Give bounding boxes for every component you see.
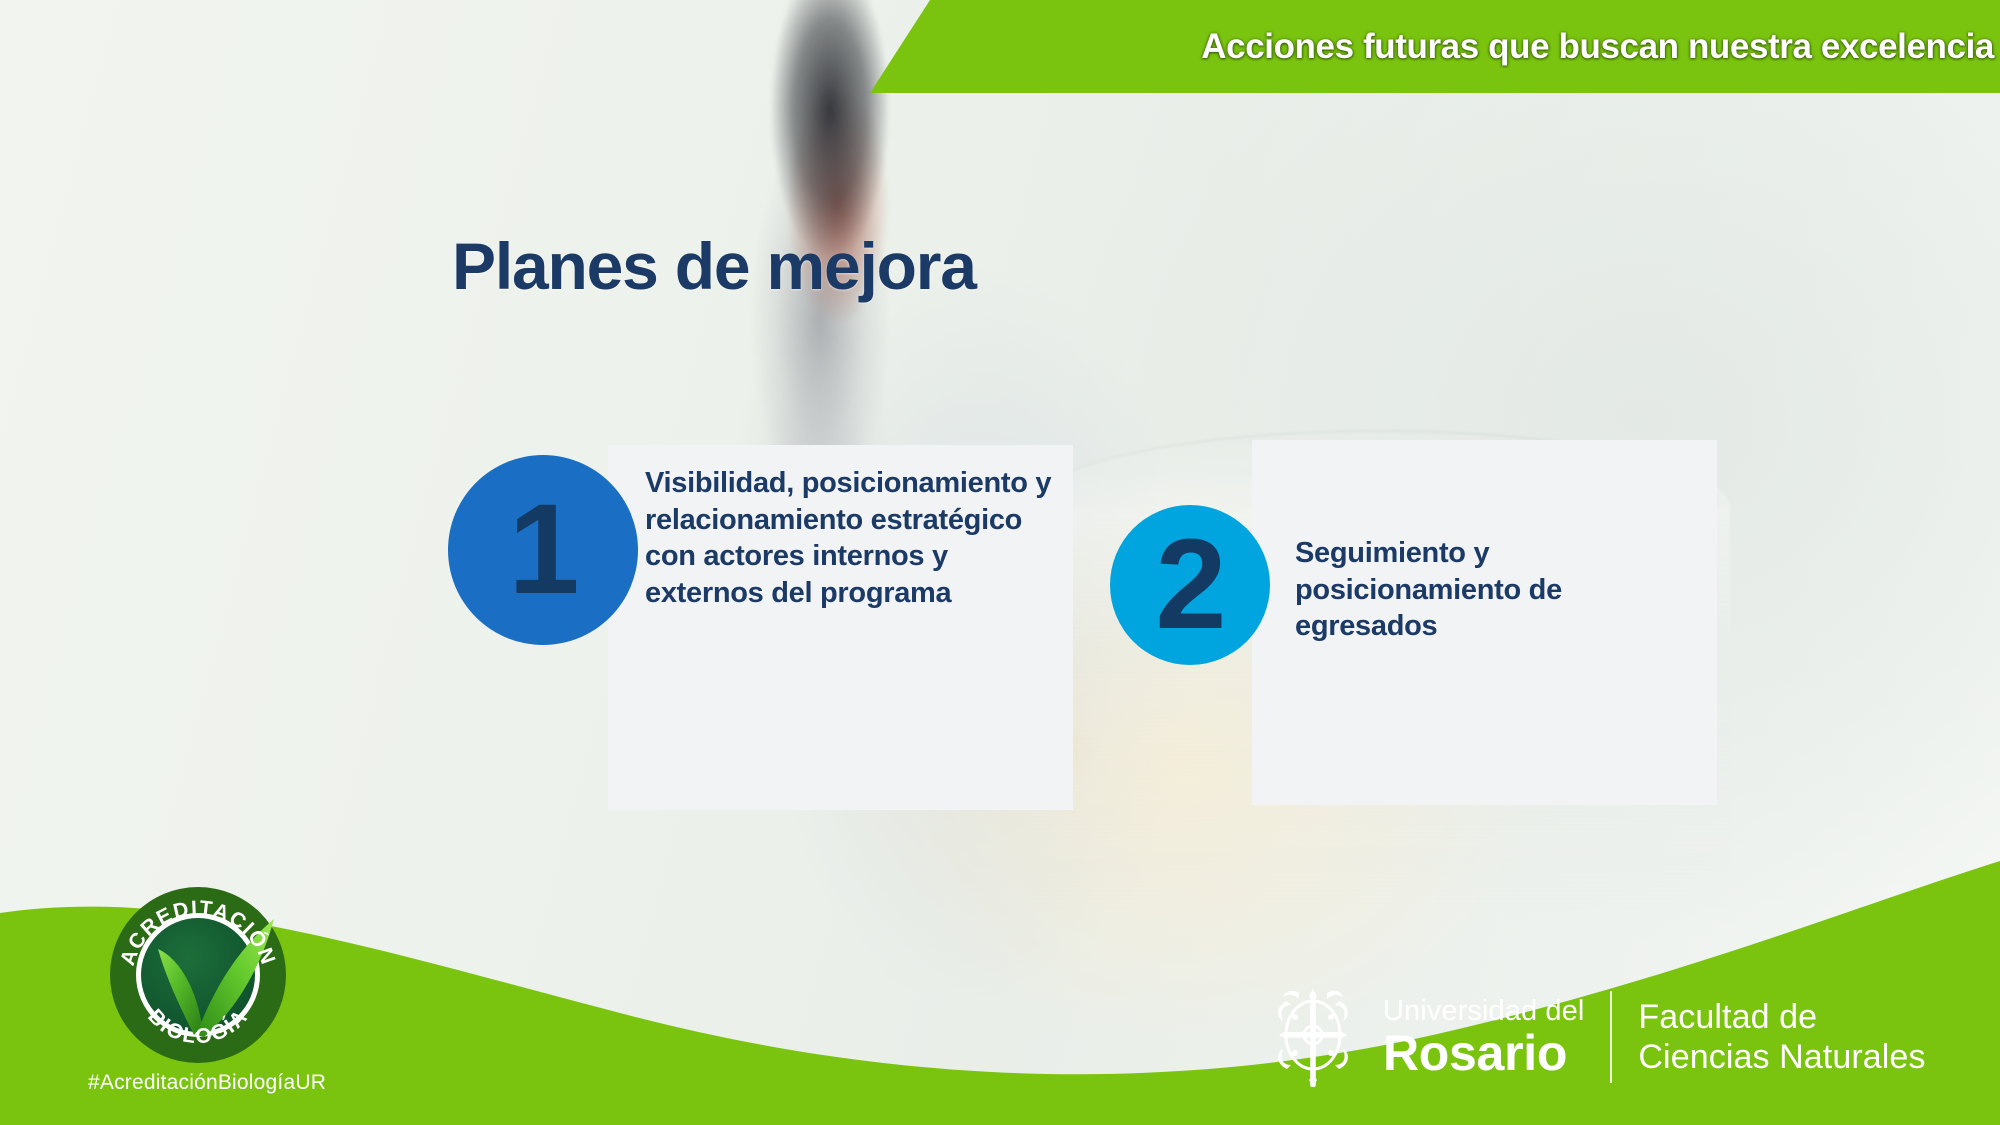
card-number-badge: 2 [1110, 505, 1270, 665]
faculty-name: Facultad de Ciencias Naturales [1638, 997, 1925, 1077]
accreditation-seal: ACREDITACIÓN BIOLOGÍA [108, 885, 288, 1065]
page-title: Planes de mejora [452, 228, 976, 304]
university-name: Universidad del Rosario [1383, 997, 1584, 1078]
header-banner: Acciones futuras que buscan nuestra exce… [870, 0, 2000, 93]
card-number-badge: 1 [448, 455, 638, 645]
card-number: 1 [508, 486, 577, 614]
university-crest-icon [1265, 979, 1361, 1095]
university-line2: Rosario [1383, 1028, 1584, 1078]
accreditation-seal-block: ACREDITACIÓN BIOLOGÍA #AcreditaciónBiolo… [88, 885, 308, 1095]
faculty-line2: Ciencias Naturales [1638, 1037, 1925, 1077]
hashtag-label: #AcreditaciónBiologíaUR [88, 1071, 308, 1095]
university-logo-lockup: Universidad del Rosario Facultad de Cien… [1265, 979, 1926, 1095]
university-line1: Universidad del [1383, 997, 1584, 1026]
faculty-line1: Facultad de [1638, 997, 1925, 1037]
card-description: Visibilidad, posicionamiento y relaciona… [645, 465, 1060, 611]
header-title: Acciones futuras que buscan nuestra exce… [1201, 27, 1994, 67]
card-description: Seguimiento y posicionamiento de egresad… [1295, 535, 1695, 645]
card-number: 2 [1155, 521, 1224, 649]
logo-divider [1610, 991, 1612, 1083]
